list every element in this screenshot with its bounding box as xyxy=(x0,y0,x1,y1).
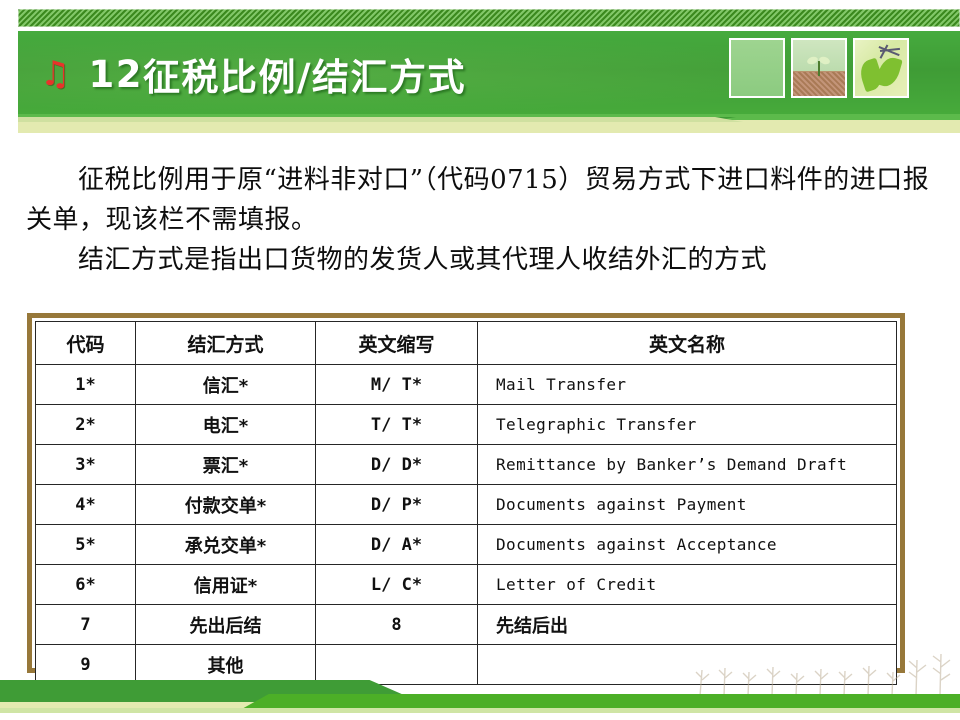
cell-method: 电汇* xyxy=(136,405,316,445)
page-title-number: 12 xyxy=(88,53,143,96)
column-header-method: 结汇方式 xyxy=(136,322,316,365)
cell-name: Documents against Payment xyxy=(478,485,897,525)
cell-name: Documents against Acceptance xyxy=(478,525,897,565)
table-row: 4* 付款交单* D∕ P* Documents against Payment xyxy=(36,485,897,525)
cell-method: 信用证* xyxy=(136,565,316,605)
page-title: ♫ 12 征税比例/结汇方式 xyxy=(40,43,466,105)
cell-abbr: T∕ T* xyxy=(316,405,478,445)
cell-name: 先结后出 xyxy=(478,605,897,645)
cell-abbr: M∕ T* xyxy=(316,365,478,405)
cell-code: 3* xyxy=(36,445,136,485)
cell-code: 2* xyxy=(36,405,136,445)
cell-code: 7 xyxy=(36,605,136,645)
table-row: 5* 承兑交单* D∕ A* Documents against Accepta… xyxy=(36,525,897,565)
cell-code: 5* xyxy=(36,525,136,565)
settlement-method-table: 代码 结汇方式 英文缩写 英文名称 1* 信汇* M∕ T* Mail Tran… xyxy=(35,321,897,685)
table-row: 6* 信用证* L∕ C* Letter of Credit xyxy=(36,565,897,605)
body-text-block: 征税比例用于原“进料非对口”（代码0715）贸易方式下进口料件的进口报关单，现该… xyxy=(26,160,934,280)
cell-method: 票汇* xyxy=(136,445,316,485)
cell-name: Telegraphic Transfer xyxy=(478,405,897,445)
blank-green-thumb xyxy=(729,38,785,98)
cell-abbr xyxy=(316,645,478,685)
table-row: 2* 电汇* T∕ T* Telegraphic Transfer xyxy=(36,405,897,445)
column-header-abbr: 英文缩写 xyxy=(316,322,478,365)
cell-code: 4* xyxy=(36,485,136,525)
cell-name: Remittance by Banker’s Demand Draft xyxy=(478,445,897,485)
soil-texture xyxy=(793,72,845,96)
table-header-row: 代码 结汇方式 英文缩写 英文名称 xyxy=(36,322,897,365)
cell-name: Mail Transfer xyxy=(478,365,897,405)
paragraph-2: 结汇方式是指出口货物的发货人或其代理人收结外汇的方式 xyxy=(26,240,934,280)
cell-abbr: D∕ P* xyxy=(316,485,478,525)
table-row: 7 先出后结 8 先结后出 xyxy=(36,605,897,645)
footer-light-edge xyxy=(0,708,960,713)
cell-method: 信汇* xyxy=(136,365,316,405)
cell-code: 6* xyxy=(36,565,136,605)
cell-method: 先出后结 xyxy=(136,605,316,645)
top-striped-band-outline xyxy=(18,9,960,27)
paragraph-1: 征税比例用于原“进料非对口”（代码0715）贸易方式下进口料件的进口报关单，现该… xyxy=(26,160,934,240)
cell-abbr: L∕ C* xyxy=(316,565,478,605)
table-body: 1* 信汇* M∕ T* Mail Transfer 2* 电汇* T∕ T* … xyxy=(36,365,897,685)
settlement-method-table-frame: 代码 结汇方式 英文缩写 英文名称 1* 信汇* M∕ T* Mail Tran… xyxy=(27,313,905,673)
musical-note-icon: ♫ xyxy=(40,57,70,91)
table-row: 3* 票汇* D∕ D* Remittance by Banker’s Dema… xyxy=(36,445,897,485)
leaf-dragonfly-thumb xyxy=(853,38,909,98)
sprout-leaf-left-icon xyxy=(806,55,819,65)
grass-silhouette-icon xyxy=(690,648,960,696)
dragonfly-icon xyxy=(877,42,903,62)
cell-abbr: 8 xyxy=(316,605,478,645)
cell-code: 9 xyxy=(36,645,136,685)
seedling-thumb xyxy=(791,38,847,98)
cell-name: Letter of Credit xyxy=(478,565,897,605)
cell-abbr: D∕ D* xyxy=(316,445,478,485)
cell-abbr: D∕ A* xyxy=(316,525,478,565)
cell-code: 1* xyxy=(36,365,136,405)
table-row: 1* 信汇* M∕ T* Mail Transfer xyxy=(36,365,897,405)
page-title-label: 征税比例/结汇方式 xyxy=(143,47,466,101)
slide-header: ♫ 12 征税比例/结汇方式 xyxy=(0,0,960,135)
column-header-code: 代码 xyxy=(36,322,136,365)
sprout-leaf-right-icon xyxy=(818,55,831,65)
slide: ♫ 12 征税比例/结汇方式 征税比 xyxy=(0,0,960,720)
header-thumbnail-strip xyxy=(729,38,909,98)
column-header-name: 英文名称 xyxy=(478,322,897,365)
cell-method: 付款交单* xyxy=(136,485,316,525)
cell-method: 其他 xyxy=(136,645,316,685)
sprout-stem-icon xyxy=(818,61,820,76)
cell-method: 承兑交单* xyxy=(136,525,316,565)
